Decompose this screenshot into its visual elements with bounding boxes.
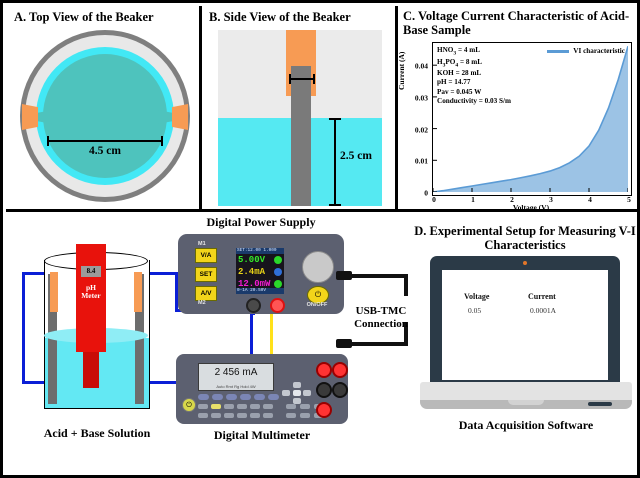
multimeter-reading: 2 456 mA [199, 367, 273, 378]
beaker-solution-inner [43, 54, 167, 178]
multimeter-power-button[interactable]: ⏻ [182, 398, 196, 412]
keypad-key[interactable] [211, 404, 221, 409]
probe-width-dimension-line [289, 78, 315, 80]
keypad-key[interactable] [300, 404, 310, 409]
usb-label-line2: Connection [340, 318, 422, 331]
laptop-trackpad-notch [508, 400, 544, 405]
figure-root: A. Top View of the Beaker 4.5 cm B. Side… [0, 0, 640, 478]
keypad-key[interactable] [211, 413, 221, 418]
software-voltage-header: Voltage [464, 292, 489, 301]
panel-a-top-view: A. Top View of the Beaker 4.5 cm [6, 6, 202, 212]
keypad-key[interactable] [224, 413, 234, 418]
panel-d-title: D. Experimental Setup for Measuring V-I … [410, 224, 640, 252]
software-voltage-value: 0.05 [468, 306, 481, 315]
multimeter-display: 2 456 mA Auto Rmt Rg Hold 4W [198, 363, 274, 391]
lcd-voltage-value: 5.00V [238, 255, 265, 265]
power-supply-caption: Digital Power Supply [178, 216, 344, 229]
nav-left-icon[interactable] [282, 390, 290, 396]
panel-d-experimental-setup: D. Experimental Setup for Measuring V-I … [6, 212, 640, 478]
electrode-tab-left [50, 272, 58, 312]
ph-meter-label: pH Meter [74, 284, 108, 301]
function-key[interactable] [212, 394, 223, 400]
laptop-lid: Voltage Current 0.05 0.0001A [430, 256, 620, 384]
legend-label: VI characteristic [573, 47, 625, 55]
ph-meter-reading: 8.4 [81, 266, 101, 277]
keypad-key[interactable] [224, 404, 234, 409]
lcd-current-value: 2.4mA [238, 267, 265, 277]
memory-m1-label: M1 [198, 241, 206, 247]
usb-label-line1: USB-TMC [340, 305, 422, 318]
lcd-status-dot-green [274, 256, 282, 264]
annot-line: pH = 14.77 [437, 78, 511, 87]
usb-tmc-label: USB-TMC Connection [340, 305, 422, 330]
function-key[interactable] [226, 394, 237, 400]
button-set[interactable]: SET [195, 267, 217, 282]
lcd-setpoint-row: SET:12.00 1.000 [236, 248, 284, 254]
y-tick-label: 0.04 [415, 62, 428, 71]
depth-label: 2.5 cm [340, 150, 372, 162]
output-jack-negative[interactable] [246, 298, 261, 313]
electrode-right [172, 104, 188, 130]
panel-a-title: A. Top View of the Beaker [14, 10, 154, 24]
usb-plug-bottom [336, 339, 352, 348]
navigation-pad[interactable] [282, 382, 310, 404]
on-off-label: ON/OFF [300, 302, 334, 308]
ph-probe-tip [83, 350, 99, 388]
ph-label-line2: Meter [74, 292, 108, 300]
webcam-icon [523, 261, 527, 265]
panel-c-title: C. Voltage Current Characteristic of Aci… [403, 9, 637, 37]
nav-right-icon[interactable] [303, 390, 311, 396]
input-jack-hi-red[interactable] [316, 362, 332, 378]
keypad-key[interactable] [237, 404, 247, 409]
function-key[interactable] [254, 394, 265, 400]
wire-left-vertical [22, 272, 25, 384]
function-key[interactable] [198, 394, 209, 400]
annot-line: HNO3 = 4 mL [437, 46, 511, 58]
annot-line: Conductivity = 0.03 S/m [437, 97, 511, 106]
input-jack-lo-black[interactable] [332, 382, 348, 398]
laptop: Voltage Current 0.05 0.0001A [420, 256, 632, 424]
keypad-key[interactable] [263, 413, 273, 418]
beaker-top-diagram: 4.5 cm [20, 30, 190, 202]
lcd-range-row: 0-1A 20.50V [236, 288, 284, 294]
button-voltage-ampere[interactable]: V/A [195, 248, 217, 263]
keypad-key[interactable] [237, 413, 247, 418]
lcd-status-dot-green2 [274, 280, 282, 288]
chart-annotation-box: HNO3 = 4 mL H3PO4 = 8 mL KOH = 28 mL pH … [437, 46, 511, 106]
output-jack-positive[interactable] [270, 298, 285, 313]
probe-rod [291, 66, 311, 206]
function-key[interactable] [240, 394, 251, 400]
usb-cable-bottom [352, 342, 408, 346]
x-axis-label: Voltage (V) [432, 203, 630, 212]
panel-b-title: B. Side View of the Beaker [209, 10, 351, 24]
multimeter-caption: Digital Multimeter [166, 428, 358, 443]
beaker-side-diagram: 2.5 cm [218, 30, 382, 206]
usb-plug-top [336, 271, 352, 280]
laptop-screen: Voltage Current 0.05 0.0001A [442, 270, 608, 380]
software-current-value: 0.0001A [530, 306, 556, 315]
nav-center-icon[interactable] [293, 390, 301, 396]
beaker-with-ph-meter: 8.4 pH Meter [36, 242, 156, 432]
y-tick-label: 0.01 [415, 157, 428, 166]
annot-line: H3PO4 = 8 mL [437, 58, 511, 70]
chart-legend: VI characteristic [547, 47, 625, 55]
button-ampere-voltage[interactable]: A/V [195, 286, 217, 301]
input-jack-lo-red[interactable] [332, 362, 348, 378]
y-tick-label: 0.03 [415, 93, 428, 102]
keypad-key[interactable] [286, 404, 296, 409]
usb-cable-top [352, 274, 408, 278]
usb-cable-top-bend [404, 274, 408, 296]
beaker-caption: Acid + Base Solution [8, 426, 186, 441]
annot-line: KOH = 28 mL [437, 69, 511, 78]
memory-m2-label: M2 [198, 300, 206, 306]
keypad-key[interactable] [300, 413, 310, 418]
y-axis-label: Current (A) [397, 52, 406, 90]
panel-b-side-view: B. Side View of the Beaker 2.5 cm 0.5 cm [202, 6, 398, 212]
chart-plot-area: HNO3 = 4 mL H3PO4 = 8 mL KOH = 28 mL pH … [432, 42, 632, 196]
y-tick-label: 0.02 [415, 125, 428, 134]
laptop-caption: Data Acquisition Software [420, 418, 632, 433]
keypad-key[interactable] [250, 404, 260, 409]
keypad-key[interactable] [286, 413, 296, 418]
legend-swatch [547, 50, 569, 53]
diameter-label: 4.5 cm [47, 145, 163, 157]
depth-dimension-line [334, 118, 336, 206]
keypad-key[interactable] [198, 404, 208, 409]
digital-power-supply: M1 V/A SET A/V M2 SET:12.00 1.000 5.00V … [178, 234, 344, 314]
software-current-header: Current [528, 292, 556, 301]
y-tick-label: 0 [424, 189, 428, 198]
electrode-tab-right [134, 272, 142, 312]
keypad-key[interactable] [198, 413, 208, 418]
power-supply-lcd: SET:12.00 1.000 5.00V 2.4mA 12.0mW 0-1A … [236, 248, 284, 294]
input-jack-aux-red[interactable] [316, 402, 332, 418]
electrode-left [22, 104, 38, 130]
input-jack-hi-black[interactable] [316, 382, 332, 398]
nav-down-icon[interactable] [293, 398, 301, 404]
digital-multimeter: 2 456 mA Auto Rmt Rg Hold 4W ⏻ [176, 354, 348, 424]
annot-line: Pav = 0.045 W [437, 88, 511, 97]
diameter-dimension-line [47, 140, 163, 142]
multimeter-sub-labels: Auto Rmt Rg Hold 4W [199, 384, 273, 389]
keypad-key[interactable] [263, 404, 273, 409]
lcd-status-dot-blue [274, 268, 282, 276]
panel-c-vi-chart: C. Voltage Current Characteristic of Aci… [398, 6, 640, 212]
function-key[interactable] [268, 394, 279, 400]
rotary-encoder-knob[interactable] [302, 251, 334, 283]
nav-up-icon[interactable] [293, 382, 301, 388]
keypad-key[interactable] [250, 413, 260, 418]
laptop-port [588, 402, 612, 406]
